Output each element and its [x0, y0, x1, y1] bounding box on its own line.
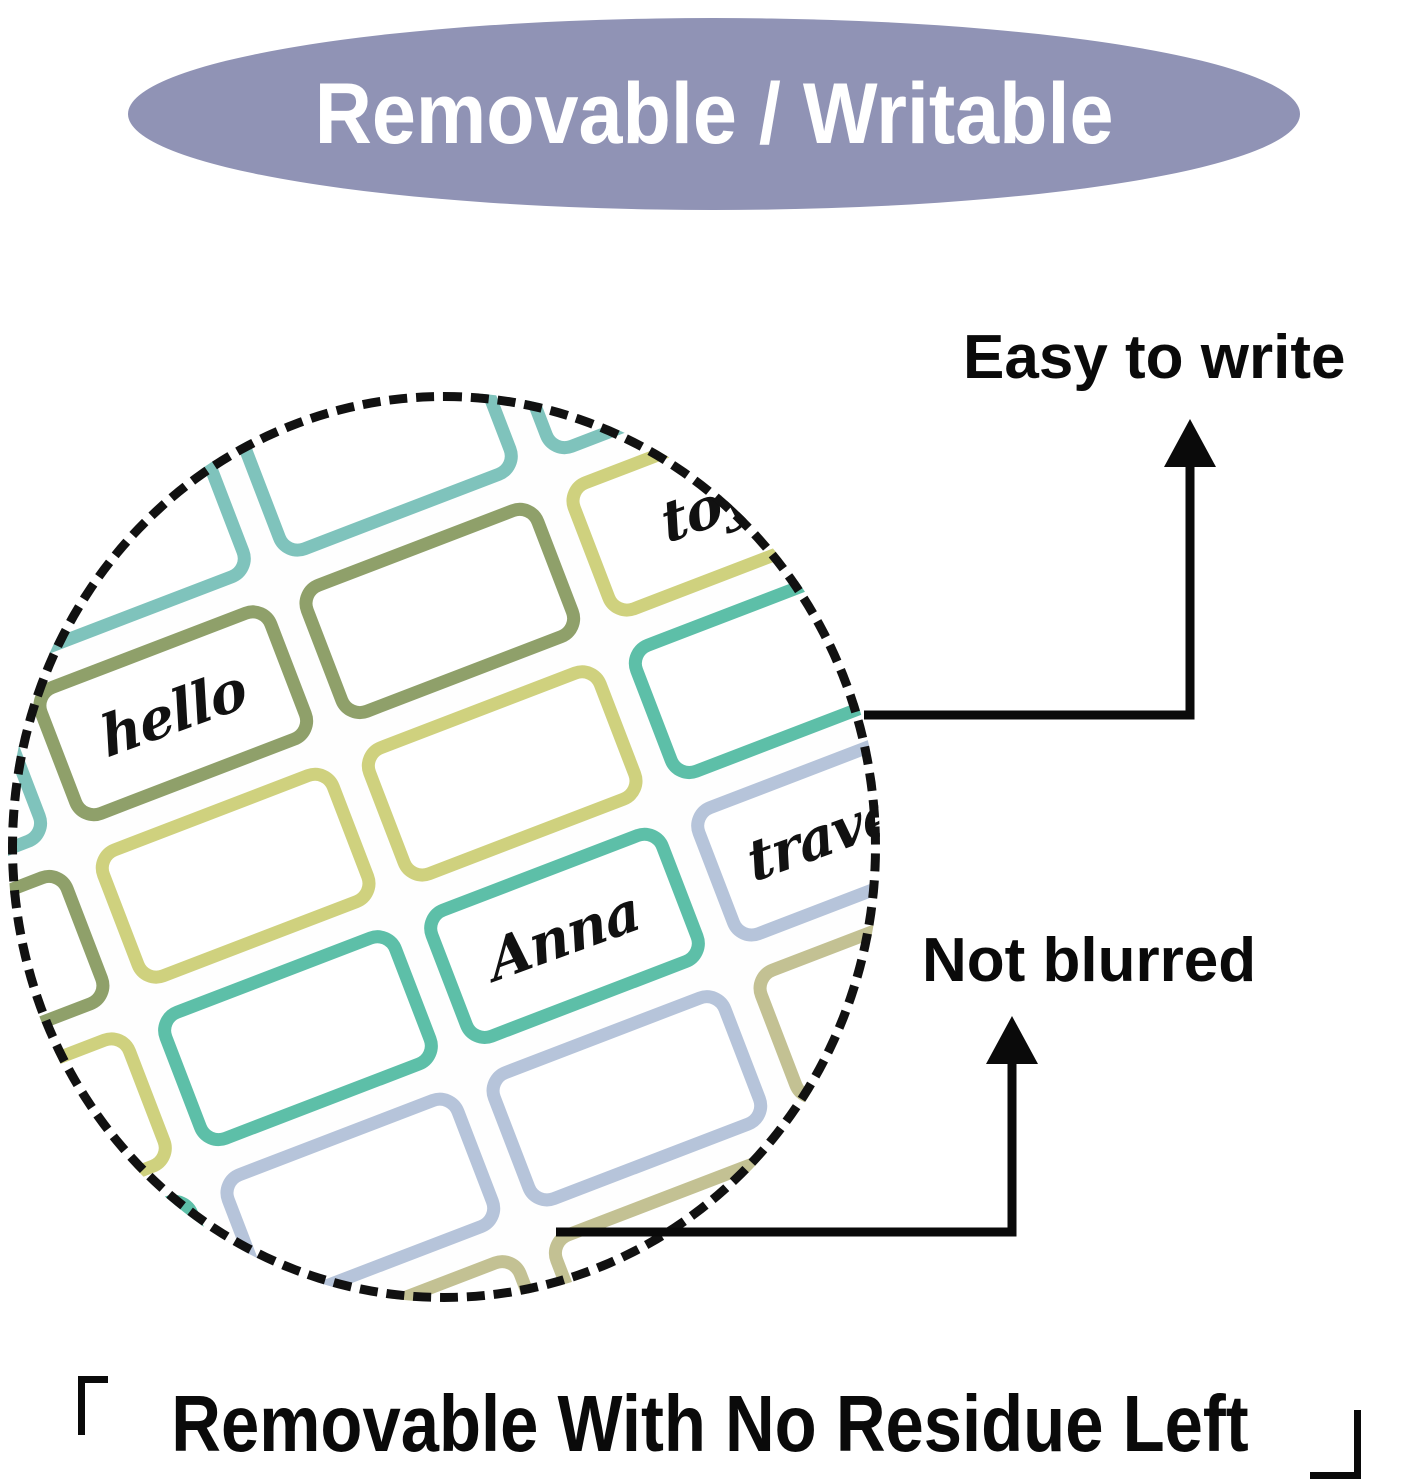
callout-arrow-not-blurred: [552, 1012, 1052, 1242]
label-handwriting-text: hello: [94, 655, 252, 771]
callout-label-not-blurred: Not blurred: [922, 930, 1256, 992]
label-handwriting-text: Anna: [482, 877, 646, 995]
page-title: Removable / Writable: [315, 71, 1114, 157]
label-handwriting-text: toy: [654, 461, 757, 557]
header-banner: Removable / Writable: [128, 18, 1300, 210]
bracket-right-corner: [1310, 1410, 1361, 1479]
label-handwriting-text: travel: [741, 771, 880, 895]
footer-caption-block: Removable With No Residue Left: [0, 1382, 1420, 1472]
callout-label-easy-to-write: Easy to write: [963, 327, 1345, 389]
callout-arrow-easy-to-write: [860, 415, 1220, 725]
footer-caption-text: Removable With No Residue Left: [99, 1382, 1320, 1466]
